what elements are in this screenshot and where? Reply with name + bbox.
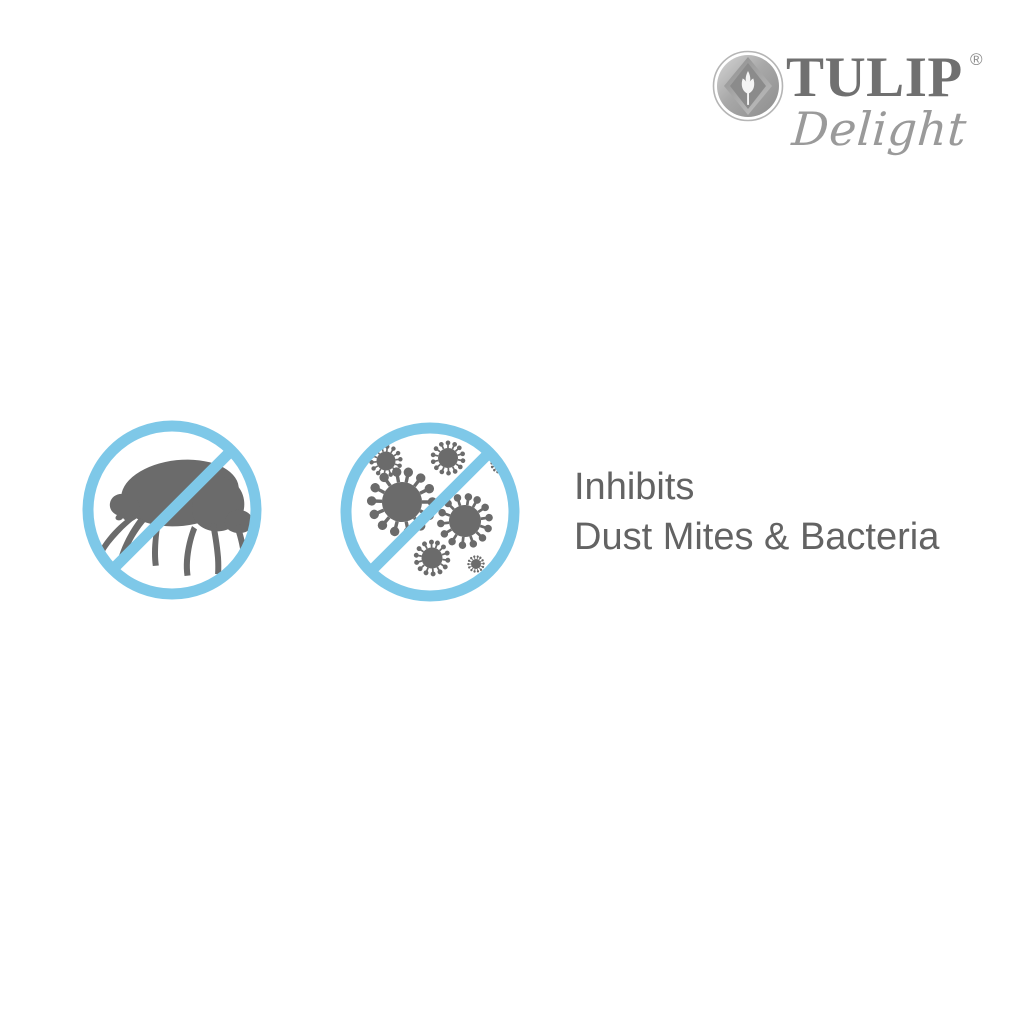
feature-caption: Inhibits Dust Mites & Bacteria [574,462,974,562]
no-dust-mite-icon [76,414,268,606]
feature-row: Inhibits Dust Mites & Bacteria [0,0,1024,1024]
no-bacteria-icon [334,416,526,608]
feature-caption-line-1: Inhibits [574,462,974,512]
feature-caption-line-2: Dust Mites & Bacteria [574,512,974,562]
